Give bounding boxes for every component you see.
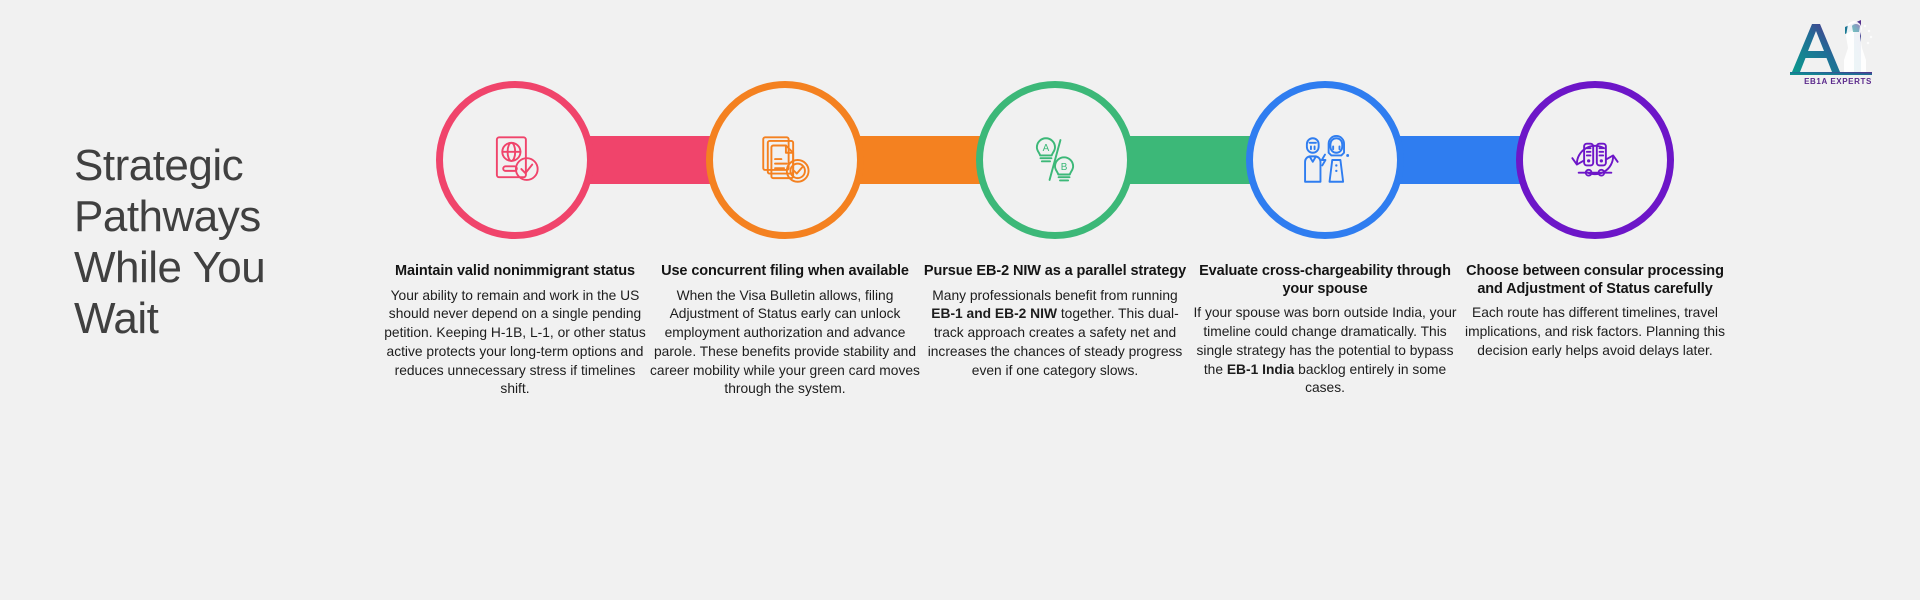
passport-globe-check-icon: [486, 131, 544, 189]
steps-container: Maintain valid nonimmigrant statusYour a…: [380, 0, 1920, 600]
step-1-body: Your ability to remain and work in the U…: [380, 287, 650, 400]
page-title-line-3: While You: [74, 243, 265, 292]
step-2-title: Use concurrent filing when available: [650, 263, 920, 281]
page-title: Strategic Pathways While You Wait: [74, 140, 354, 344]
step-1-title: Maintain valid nonimmigrant status: [380, 263, 650, 281]
step-5-body: Each route has different timelines, trav…: [1460, 304, 1730, 360]
page-title-line-2: Pathways: [74, 192, 261, 241]
server-switch-arrows-icon: [1566, 131, 1624, 189]
svg-text:A: A: [1043, 143, 1050, 154]
couple-spouse-icon: [1296, 131, 1354, 189]
step-1-circle[interactable]: [436, 81, 594, 239]
step-4-circle[interactable]: [1246, 81, 1404, 239]
step-3-circle[interactable]: AB: [976, 81, 1134, 239]
documents-clock-check-icon: [756, 131, 814, 189]
step-4-body: If your spouse was born outside India, y…: [1190, 304, 1460, 398]
step-3-title: Pursue EB-2 NIW as a parallel strategy: [920, 263, 1190, 281]
step-4-title: Evaluate cross-chargeability through you…: [1190, 263, 1460, 298]
step-4: Evaluate cross-chargeability through you…: [1190, 0, 1460, 398]
step-5-title: Choose between consular processing and A…: [1460, 263, 1730, 298]
step-5: Choose between consular processing and A…: [1460, 0, 1730, 361]
step-3-body: Many professionals benefit from running …: [920, 287, 1190, 381]
page-title-line-1: Strategic: [74, 141, 243, 190]
svg-text:B: B: [1061, 162, 1068, 173]
step-2: Use concurrent filing when availableWhen…: [650, 0, 920, 399]
two-lightbulbs-a-b-icon: AB: [1026, 131, 1084, 189]
step-3: ABPursue EB-2 NIW as a parallel strategy…: [920, 0, 1190, 380]
page-title-line-4: Wait: [74, 294, 158, 343]
step-5-circle[interactable]: [1516, 81, 1674, 239]
step-2-body: When the Visa Bulletin allows, filing Ad…: [650, 287, 920, 400]
step-1: Maintain valid nonimmigrant statusYour a…: [380, 0, 650, 399]
step-2-circle[interactable]: [706, 81, 864, 239]
